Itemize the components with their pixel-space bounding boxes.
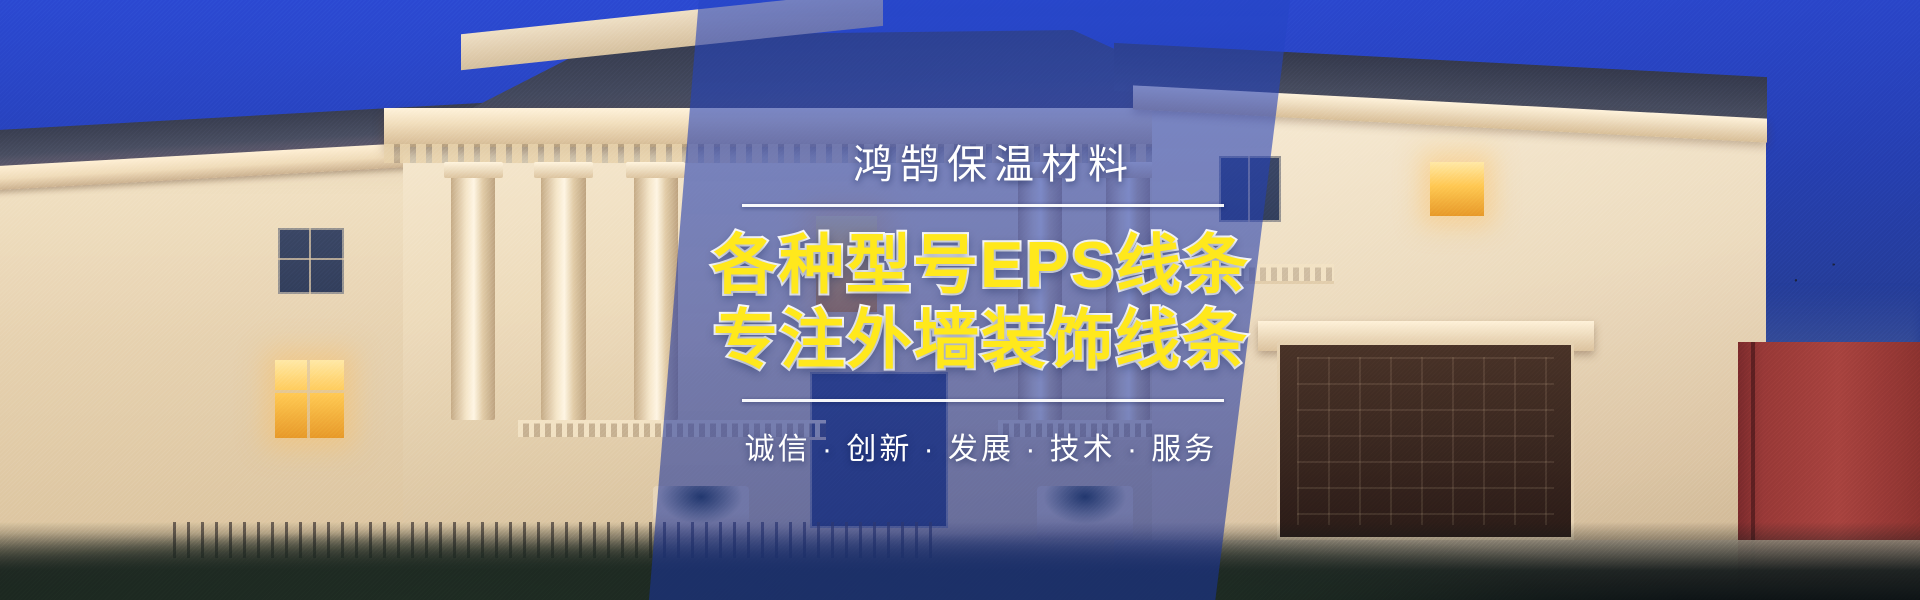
brand-name: 鸿鹄保温材料 — [853, 132, 1135, 190]
promo-banner: 鸿鹄保温材料 各种型号EPS线条 专注外墙装饰线条 诚信 · 创新 · 发展 ·… — [0, 0, 1920, 600]
divider-top — [742, 204, 1224, 207]
banner-content: 鸿鹄保温材料 各种型号EPS线条 专注外墙装饰线条 诚信 · 创新 · 发展 ·… — [0, 0, 1920, 600]
headline-line-2: 专注外墙装饰线条 — [712, 302, 1250, 377]
headline-line-1: 各种型号EPS线条 — [712, 227, 1250, 302]
divider-bottom — [742, 399, 1224, 402]
tagline: 诚信 · 创新 · 发展 · 技术 · 服务 — [745, 424, 1218, 468]
headline: 各种型号EPS线条 专注外墙装饰线条 — [712, 227, 1250, 378]
